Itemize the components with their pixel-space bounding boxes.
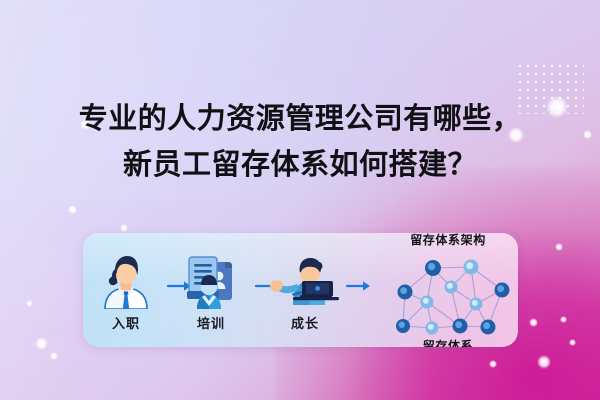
step-label-training: 培训 (172, 313, 250, 332)
process-card: 入职 (83, 233, 518, 347)
employee-woman-icon (87, 251, 165, 309)
network-label-top: 留存体系架构 (378, 233, 518, 247)
process-step-growth[interactable]: 成长 (266, 251, 344, 332)
title-line-1: 专业的人力资源管理公司有哪些， (0, 96, 600, 142)
arrow-growth-to-network (346, 279, 372, 293)
title-line-2: 新员工留存体系如何搭建？ (0, 142, 600, 188)
retention-network-block: 留存体系架构 留存体系 (378, 233, 518, 347)
step-label-growth: 成长 (266, 313, 344, 332)
retention-network-graph (381, 248, 515, 338)
process-step-onboarding[interactable]: 入职 (87, 251, 165, 332)
growth-laptop-person-icon (266, 251, 344, 309)
step-label-onboarding: 入职 (87, 313, 165, 332)
network-label-bottom: 留存体系 (378, 339, 518, 347)
process-step-training[interactable]: 培训 (172, 251, 250, 332)
poster-root: 专业的人力资源管理公司有哪些， 新员工留存体系如何搭建？ (0, 0, 600, 400)
poster-title: 专业的人力资源管理公司有哪些， 新员工留存体系如何搭建？ (0, 96, 600, 188)
training-documents-icon (172, 251, 250, 309)
